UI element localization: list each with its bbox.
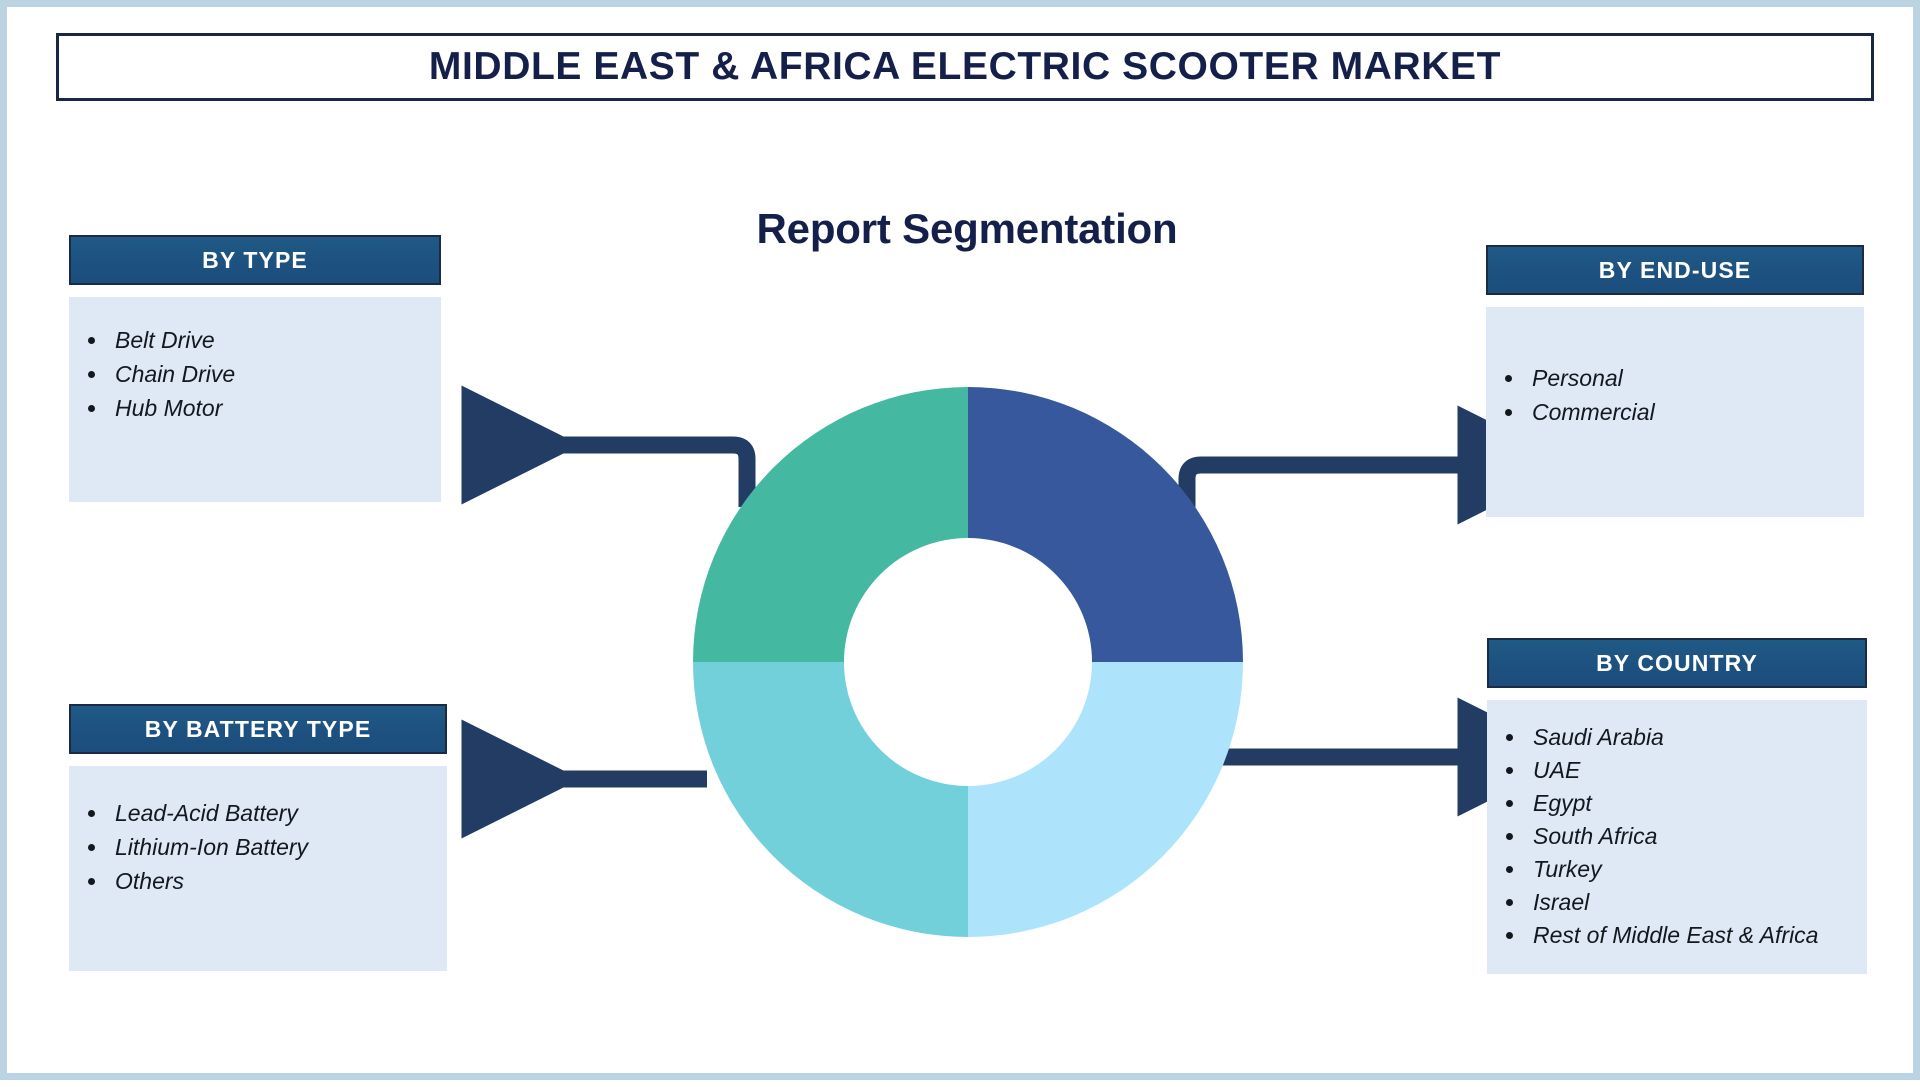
- list-item: Israel: [1527, 889, 1851, 915]
- list-item: Belt Drive: [109, 327, 425, 353]
- segment-body-by-type: Belt Drive Chain Drive Hub Motor: [69, 297, 441, 502]
- list-item: Chain Drive: [109, 361, 425, 387]
- segment-list-by-end-use: Personal Commercial: [1486, 365, 1854, 425]
- list-item: Egypt: [1527, 790, 1851, 816]
- segment-panel-by-end-use: BY END-USE Personal Commercial: [1486, 245, 1864, 517]
- list-item: Lead-Acid Battery: [109, 800, 431, 826]
- segment-panel-by-type: BY TYPE Belt Drive Chain Drive Hub Motor: [69, 235, 441, 502]
- list-item: South Africa: [1527, 823, 1851, 849]
- canvas: MIDDLE EAST & AFRICA ELECTRIC SCOOTER MA…: [7, 7, 1913, 1073]
- donut-chart: [693, 387, 1243, 937]
- segment-panel-by-battery-type: BY BATTERY TYPE Lead-Acid Battery Lithiu…: [69, 704, 447, 971]
- list-item: Personal: [1526, 365, 1848, 391]
- infographic-page: MIDDLE EAST & AFRICA ELECTRIC SCOOTER MA…: [0, 0, 1920, 1080]
- segment-header-by-end-use: BY END-USE: [1486, 245, 1864, 295]
- center-heading: Report Segmentation: [567, 205, 1367, 253]
- list-item: Others: [109, 868, 431, 894]
- donut-slice-top-right: [968, 387, 1243, 662]
- donut-slice-bottom-left: [693, 662, 968, 937]
- segment-panel-by-country: BY COUNTRY Saudi Arabia UAE Egypt South …: [1487, 638, 1867, 974]
- segment-body-by-end-use: Personal Commercial: [1486, 307, 1864, 517]
- segment-list-by-battery-type: Lead-Acid Battery Lithium-Ion Battery Ot…: [69, 800, 437, 894]
- list-item: Hub Motor: [109, 395, 425, 421]
- list-item: Rest of Middle East & Africa: [1527, 922, 1851, 948]
- page-title: MIDDLE EAST & AFRICA ELECTRIC SCOOTER MA…: [429, 45, 1501, 89]
- title-box: MIDDLE EAST & AFRICA ELECTRIC SCOOTER MA…: [56, 33, 1874, 101]
- list-item: Lithium-Ion Battery: [109, 834, 431, 860]
- list-item: Turkey: [1527, 856, 1851, 882]
- segment-list-by-country: Saudi Arabia UAE Egypt South Africa Turk…: [1487, 724, 1857, 948]
- donut-slice-top-left: [693, 387, 968, 662]
- list-item: Commercial: [1526, 399, 1848, 425]
- segment-header-by-country: BY COUNTRY: [1487, 638, 1867, 688]
- segment-header-by-type: BY TYPE: [69, 235, 441, 285]
- list-item: UAE: [1527, 757, 1851, 783]
- segment-body-by-country: Saudi Arabia UAE Egypt South Africa Turk…: [1487, 700, 1867, 974]
- segment-body-by-battery-type: Lead-Acid Battery Lithium-Ion Battery Ot…: [69, 766, 447, 971]
- list-item: Saudi Arabia: [1527, 724, 1851, 750]
- segment-header-by-battery-type: BY BATTERY TYPE: [69, 704, 447, 754]
- segment-list-by-type: Belt Drive Chain Drive Hub Motor: [69, 327, 431, 421]
- donut-slice-bottom-right: [968, 662, 1243, 937]
